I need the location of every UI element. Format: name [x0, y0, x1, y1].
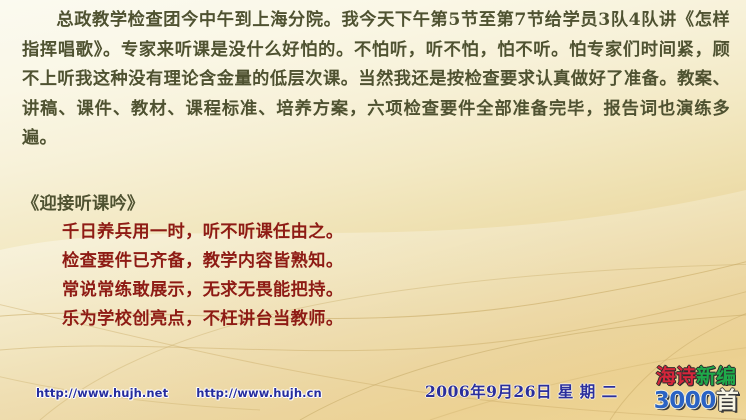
website-link-cn[interactable]: http://www.hujh.cn — [196, 386, 322, 400]
presentation-slide: 总政教学检查团今中午到上海分院。我今天下午第5节至第7节给学员3队4队讲《怎样指… — [0, 0, 746, 420]
slide-date: 2006年9月26日 星 期 二 — [425, 380, 618, 402]
logo-count-unit: 首 — [716, 387, 739, 414]
poem-block: 《迎接听课吟》 千日养兵用一时，听不听课任由之。 检查要件已齐备，教学内容皆熟知… — [22, 190, 542, 334]
poem-line: 乐为学校创亮点，不枉讲台当教师。 — [22, 305, 542, 334]
poem-line: 检查要件已齐备，教学内容皆熟知。 — [22, 247, 542, 276]
website-link-net[interactable]: http://www.hujh.net — [36, 386, 168, 400]
publisher-logo[interactable]: 海诗新编 3000首 — [648, 366, 744, 414]
logo-subtitle-line: 3000首 — [648, 388, 744, 414]
footer-links: http://www.hujh.net http://www.hujh.cn — [36, 386, 322, 400]
logo-count-number: 3000 — [654, 388, 716, 414]
poem-line: 千日养兵用一时，听不听课任由之。 — [22, 218, 542, 247]
logo-title-line: 海诗新编 — [648, 366, 744, 387]
poem-title: 《迎接听课吟》 — [22, 190, 542, 218]
prose-paragraph: 总政教学检查团今中午到上海分院。我今天下午第5节至第7节给学员3队4队讲《怎样指… — [22, 6, 730, 154]
poem-line: 常说常练敢展示，无求无畏能把持。 — [22, 276, 542, 305]
logo-title-part-a: 海诗 — [656, 364, 696, 388]
logo-title-part-b: 新编 — [696, 364, 736, 388]
